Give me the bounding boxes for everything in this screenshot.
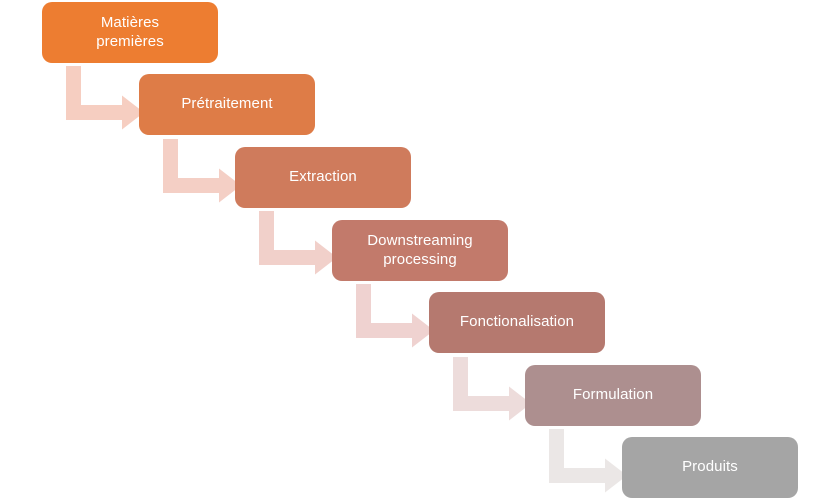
process-step-label: Fonctionalisation [439, 313, 595, 332]
process-step-matieres-premieres[interactable]: Matières premières [42, 2, 218, 63]
process-step-pretraitement[interactable]: Prétraitement [139, 74, 315, 135]
elbow-arrow-icon [163, 139, 241, 199]
elbow-arrow-shape [66, 66, 144, 126]
process-step-label: Downstreaming processing [342, 232, 498, 270]
process-step-label: Prétraitement [149, 95, 305, 114]
elbow-arrow-icon [259, 211, 337, 271]
process-step-label: Produits [632, 458, 788, 477]
elbow-arrow-shape [549, 429, 627, 489]
diagram-canvas: Matières premièresPrétraitementExtractio… [0, 0, 837, 504]
process-step-produits[interactable]: Produits [622, 437, 798, 498]
elbow-arrow-shape [259, 211, 337, 271]
process-step-label: Formulation [535, 386, 691, 405]
process-step-extraction[interactable]: Extraction [235, 147, 411, 208]
process-step-formulation[interactable]: Formulation [525, 365, 701, 426]
elbow-arrow-icon [356, 284, 434, 344]
process-step-label: Extraction [245, 168, 401, 187]
process-step-fonctionalisation[interactable]: Fonctionalisation [429, 292, 605, 353]
elbow-arrow-shape [163, 139, 241, 199]
elbow-arrow-icon [453, 357, 531, 417]
process-step-label: Matières premières [52, 14, 208, 52]
elbow-arrow-shape [453, 357, 531, 417]
elbow-arrow-icon [66, 66, 144, 126]
elbow-arrow-shape [356, 284, 434, 344]
process-step-downstreaming-processing[interactable]: Downstreaming processing [332, 220, 508, 281]
elbow-arrow-icon [549, 429, 627, 489]
